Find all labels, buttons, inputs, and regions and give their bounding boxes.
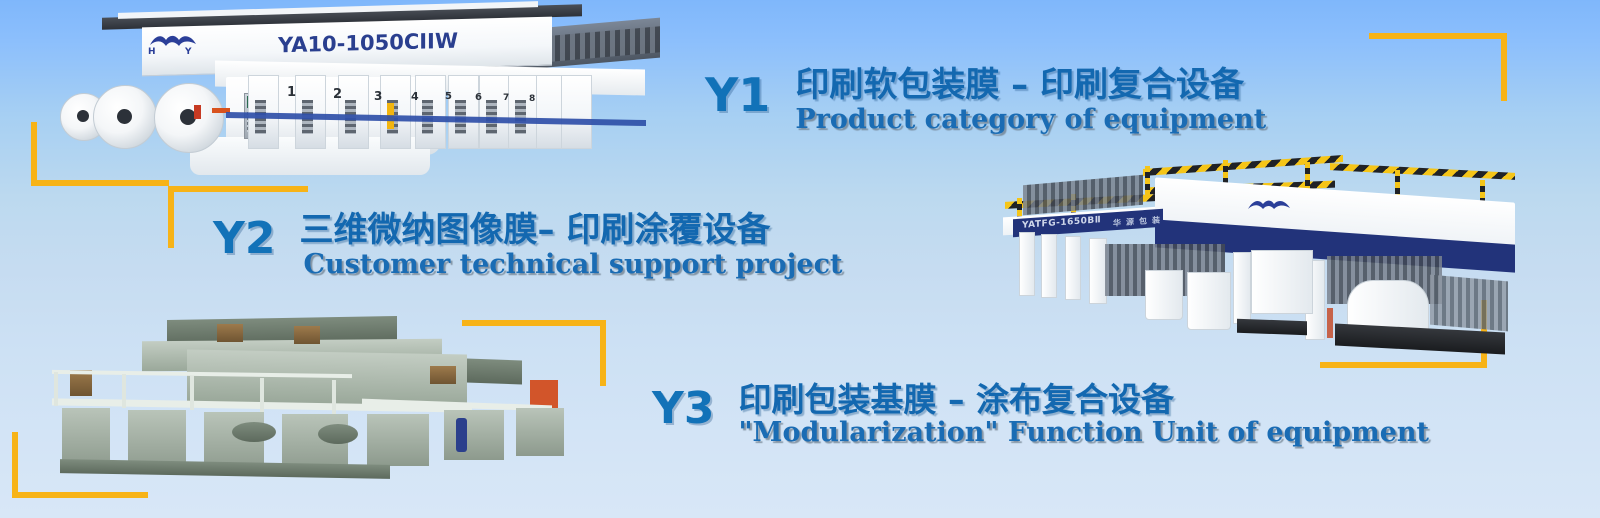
coating-line-unit-7 — [516, 408, 564, 456]
bracket-top-right-vertical — [1501, 33, 1507, 101]
press-web-strip — [194, 105, 201, 119]
coating-line-unit-6 — [444, 410, 504, 460]
laminator-railing-top-b — [1330, 163, 1515, 180]
entry-y1-title-en: Product category of equipment — [795, 106, 1266, 134]
laminator-base-frame-2 — [1237, 319, 1307, 335]
press-unwind-hub-left — [77, 110, 89, 122]
coating-line-motor-2 — [294, 326, 320, 344]
coating-line-roller-2 — [318, 424, 358, 444]
entry-y3-title-cn: 印刷包装基膜 – 涂布复合设备 — [738, 383, 1429, 418]
entry-y1-titles: 印刷软包装膜 – 印刷复合设备 Product category of equi… — [795, 68, 1266, 134]
entry-y3-titles: 印刷包装基膜 – 涂布复合设备 "Modularization" Functio… — [738, 383, 1429, 447]
entry-y1-code: Y1 — [705, 72, 770, 118]
coating-line-roller-1 — [232, 422, 276, 442]
coating-line-rail-post-4 — [260, 378, 264, 412]
machine-coating-line — [32, 310, 572, 480]
laminator-web-red — [1327, 308, 1333, 338]
laminator-column-1 — [1019, 232, 1035, 296]
bracket-machine2-horizontal-left — [1320, 362, 1460, 368]
coating-line-rail-post-5 — [332, 380, 336, 414]
press-model-label: YA10-1050CIIW — [278, 29, 458, 58]
laminator-rail-post-3 — [1145, 166, 1150, 196]
bracket-y3-vertical — [600, 320, 606, 386]
laminator-column-2 — [1041, 234, 1057, 298]
press-unit-number-8: 8 — [529, 94, 535, 104]
press-unwind-hub-mid — [117, 109, 132, 124]
coating-line-motor-3 — [430, 366, 456, 384]
bracket-y2-horizontal — [168, 186, 308, 192]
coating-line-oven — [187, 350, 467, 407]
press-unit-number-7: 7 — [503, 93, 509, 103]
machine-printing-press: H Y YA10-1050CIIW — [30, 5, 600, 175]
laminator-column-3 — [1065, 236, 1081, 300]
entry-y1: Y1 印刷软包装膜 – 印刷复合设备 Product category of e… — [705, 68, 1266, 134]
coating-line-rail-post-3 — [190, 376, 194, 410]
press-unit-number-4: 4 — [411, 90, 419, 103]
entry-y2-title-en: Customer technical support project — [303, 251, 842, 279]
entry-y2-title-cn: 三维微纳图像膜– 印刷涂覆设备 — [299, 213, 842, 249]
entry-y3-title-en: "Modularization" Function Unit of equipm… — [738, 419, 1429, 447]
laminator-side-mech — [1430, 275, 1508, 332]
press-unit-number-1: 1 — [287, 85, 296, 100]
press-unit-10 — [561, 75, 592, 149]
bracket-bottom-left-vertical — [12, 432, 18, 498]
coating-line-unit-5 — [367, 414, 429, 466]
entry-y3: Y3 印刷包装基膜 – 涂布复合设备 "Modularization" Func… — [652, 383, 1429, 447]
bracket-top-right-horizontal — [1369, 33, 1507, 39]
entry-y2-titles: 三维微纳图像膜– 印刷涂覆设备 Customer technical suppo… — [299, 213, 842, 279]
laminator-bird-logo-icon — [1247, 198, 1291, 212]
press-unit-number-6: 6 — [475, 92, 482, 103]
product-category-banner: H Y YA10-1050CIIW — [0, 0, 1600, 518]
laminator-housing-c — [1251, 250, 1313, 314]
entry-y2-code: Y2 — [213, 217, 275, 261]
laminator-housing-a — [1145, 270, 1183, 320]
coating-line-operator — [456, 418, 467, 452]
machine-coating-laminator: YATFG-1650BⅡ 华源包装 — [975, 160, 1515, 360]
press-unit-number-3: 3 — [374, 89, 382, 103]
bracket-bottom-left-horizontal — [12, 492, 148, 498]
laminator-housing-b — [1187, 272, 1231, 330]
press-logo-y: Y — [185, 47, 192, 57]
coating-line-rail-post-2 — [122, 374, 126, 408]
entry-y3-code: Y3 — [652, 387, 714, 431]
laminator-railing-top-a — [1143, 155, 1343, 176]
press-unit-number-5: 5 — [445, 91, 452, 102]
entry-y1-title-cn: 印刷软包装膜 – 印刷复合设备 — [795, 68, 1266, 104]
bracket-top-left-horizontal — [31, 180, 169, 186]
bracket-y2-vertical — [168, 186, 174, 248]
press-logo-h: H — [148, 47, 156, 57]
press-unit-number-2: 2 — [333, 87, 342, 102]
coating-line-rail-post-1 — [54, 372, 58, 406]
laminator-column-6 — [1233, 252, 1251, 324]
entry-y2: Y2 三维微纳图像膜– 印刷涂覆设备 Customer technical su… — [213, 213, 843, 279]
coating-line-motor-1 — [217, 324, 243, 342]
